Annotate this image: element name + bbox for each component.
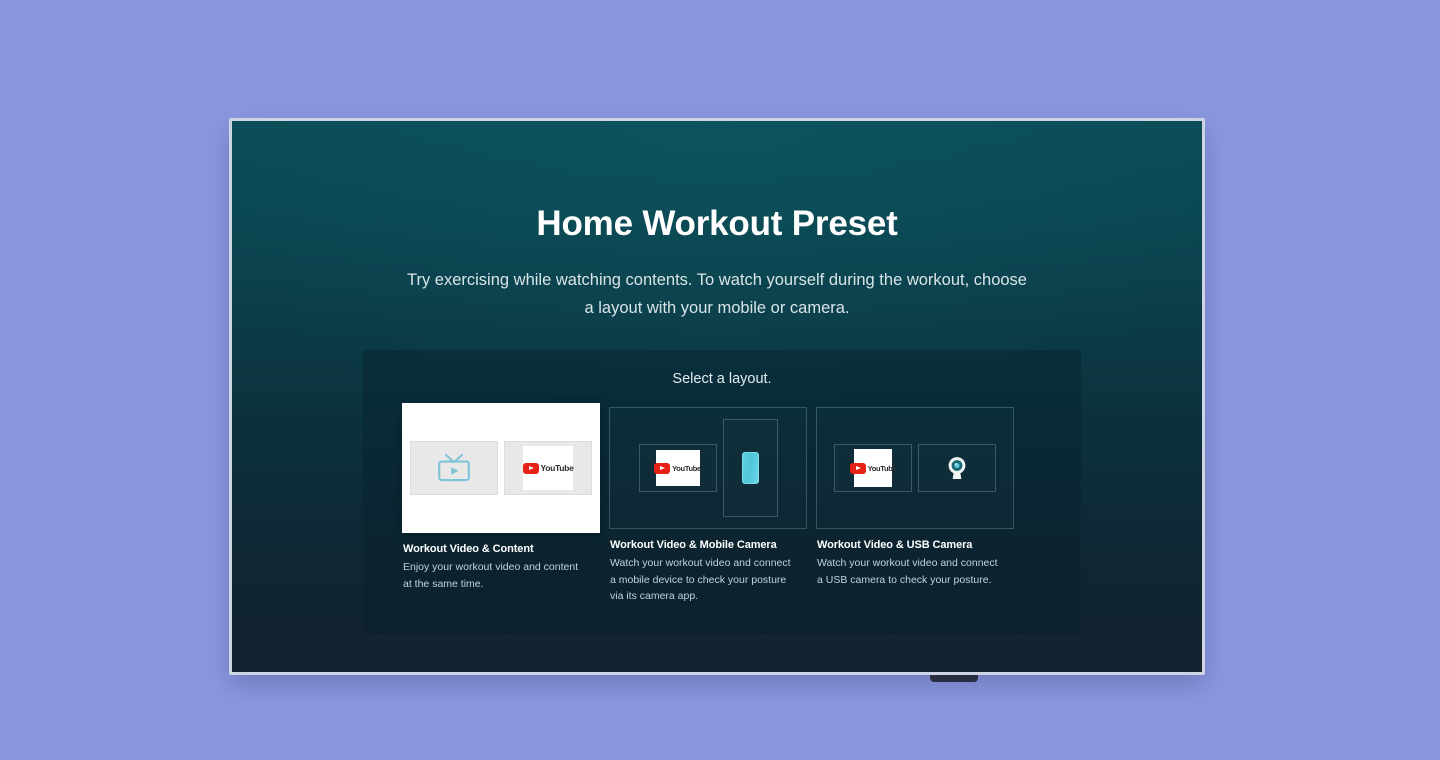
layout-card-thumbnail[interactable]: YouTube	[609, 407, 807, 529]
layout-card-caption: Workout Video & Content Enjoy your worko…	[402, 543, 600, 592]
youtube-logo: YouTube	[656, 450, 700, 486]
layout-card-caption: Workout Video & USB Camera Watch your wo…	[816, 539, 1014, 588]
layout-card-title: Workout Video & Mobile Camera	[610, 539, 807, 551]
layout-card-description: Watch your workout video and connect a U…	[817, 555, 1003, 588]
page-title: Home Workout Preset	[232, 204, 1202, 244]
page-subtitle: Try exercising while watching contents. …	[407, 266, 1027, 322]
thumbnail-tile-video: YouTube	[639, 444, 717, 492]
youtube-wordmark: YouTube	[868, 464, 897, 473]
tv-frame: Home Workout Preset Try exercising while…	[229, 118, 1205, 675]
layout-card-description: Enjoy your workout video and content at …	[403, 559, 589, 592]
youtube-logo: YouTube	[854, 449, 892, 487]
youtube-wordmark: YouTube	[541, 463, 574, 473]
layout-card-thumbnail[interactable]: YouTube	[816, 407, 1014, 529]
tv-screen: Home Workout Preset Try exercising while…	[232, 121, 1202, 672]
layout-card-workout-video-content[interactable]: YouTube Workout Video & Content Enjoy yo…	[402, 407, 600, 605]
youtube-play-badge-icon	[850, 463, 866, 474]
youtube-play-badge-icon	[654, 463, 670, 474]
layout-card-list: YouTube Workout Video & Content Enjoy yo…	[402, 407, 1035, 605]
layout-card-title: Workout Video & Content	[403, 543, 600, 555]
thumbnail-tile-usb-camera	[918, 444, 996, 492]
tv-play-icon	[437, 453, 471, 483]
layout-card-description: Watch your workout video and connect a m…	[610, 555, 796, 605]
thumbnail-tile-video	[410, 441, 498, 495]
thumbnail-tile-video: YouTube	[834, 444, 912, 492]
layout-card-caption: Workout Video & Mobile Camera Watch your…	[609, 539, 807, 605]
layout-card-workout-video-usb-camera[interactable]: YouTube	[816, 407, 1014, 605]
select-layout-label: Select a layout.	[363, 371, 1081, 387]
thumbnail-tile-mobile	[723, 419, 778, 517]
page-background: Home Workout Preset Try exercising while…	[0, 0, 1440, 760]
mobile-phone-icon	[742, 452, 759, 484]
layout-card-workout-video-mobile-camera[interactable]: YouTube Workout Video & Mobile Camera Wa…	[609, 407, 807, 605]
layout-card-title: Workout Video & USB Camera	[817, 539, 1014, 551]
youtube-play-badge-icon	[523, 463, 539, 474]
usb-webcam-icon	[946, 455, 968, 481]
thumbnail-tile-content: YouTube	[504, 441, 592, 495]
youtube-logo: YouTube	[523, 446, 573, 490]
youtube-wordmark: YouTube	[672, 464, 701, 473]
layout-card-thumbnail[interactable]: YouTube	[402, 403, 600, 533]
